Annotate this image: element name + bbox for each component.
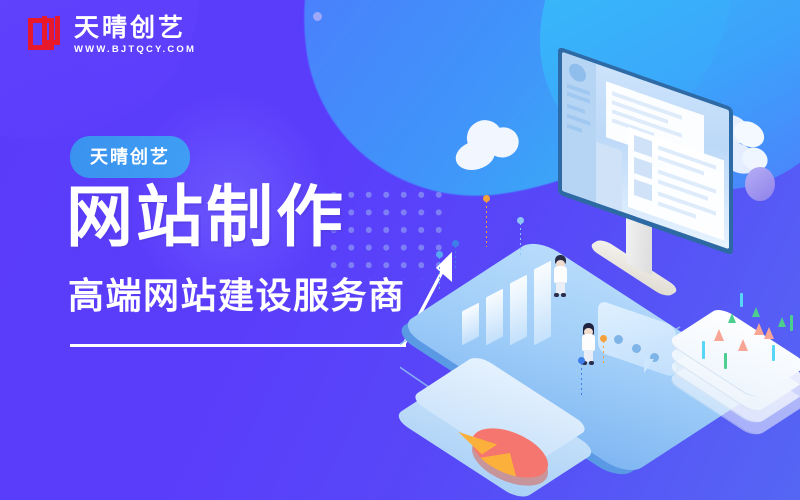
tree-icon [714,329,724,341]
monitor-screen-content [562,52,729,249]
page-title: 网站制作 [66,184,346,251]
person-standing-left [552,255,568,297]
sphere-small-icon [313,12,322,21]
layered-data-stack [668,283,800,413]
tree-icon [754,323,764,335]
isometric-illustration [400,55,800,500]
logo-website-url: WWW.BJTQCY.COM [74,44,196,55]
brand-badge: 天晴创艺 [70,136,190,178]
logo-text-block: 天晴创艺 WWW.BJTQCY.COM [74,15,196,55]
tree-icon [738,339,748,351]
tree-icon [778,317,786,327]
subheading: 高端网站建设服务商 [68,278,406,314]
divider [70,344,406,347]
pie-chart-panel [420,337,590,500]
chat-bubble [598,313,676,365]
tree-icon [764,327,774,339]
brand-logo[interactable]: 天晴创艺 WWW.BJTQCY.COM [28,15,196,55]
promo-banner: 天晴创艺 WWW.BJTQCY.COM 天晴创艺 网站制作 高端网站建设服务商 [0,0,800,500]
tqcy-square-mark-icon [28,16,64,54]
tree-icon [752,307,760,317]
logo-company-name: 天晴创艺 [74,15,196,41]
monitor-screen [558,46,733,255]
tree-icon [728,313,736,323]
desktop-monitor [540,77,760,307]
